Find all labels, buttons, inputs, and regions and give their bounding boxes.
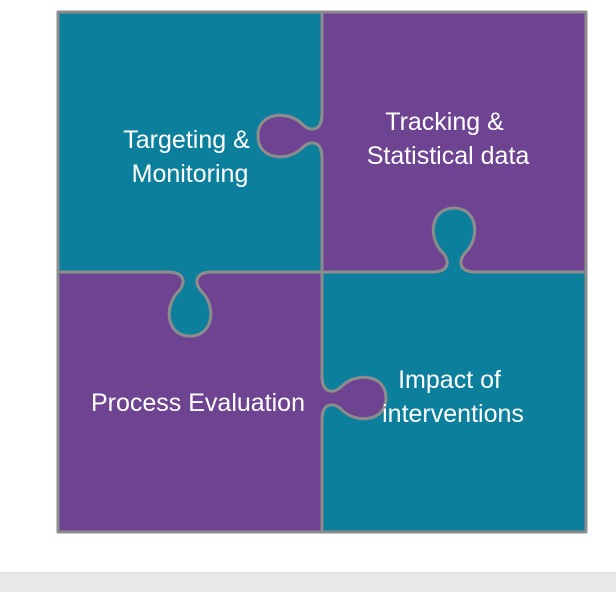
bottom-band — [0, 573, 616, 592]
label-top-left-line1: Targeting & — [123, 126, 250, 154]
diagram-canvas: Targeting & Monitoring Tracking & Statis… — [0, 0, 616, 592]
label-bottom-right-line2: interventions — [382, 400, 524, 428]
label-bottom-left: Process Evaluation — [91, 389, 305, 417]
label-top-left-line2: Monitoring — [132, 160, 249, 188]
label-bottom-right-line1: Impact of — [398, 366, 501, 394]
jigsaw-puzzle: Targeting & Monitoring Tracking & Statis… — [56, 10, 588, 534]
label-top-right-line2: Statistical data — [367, 142, 530, 170]
puzzle-svg: Targeting & Monitoring Tracking & Statis… — [56, 10, 588, 534]
label-bottom-left-line1: Process Evaluation — [91, 389, 305, 417]
label-top-right-line1: Tracking & — [385, 108, 504, 136]
